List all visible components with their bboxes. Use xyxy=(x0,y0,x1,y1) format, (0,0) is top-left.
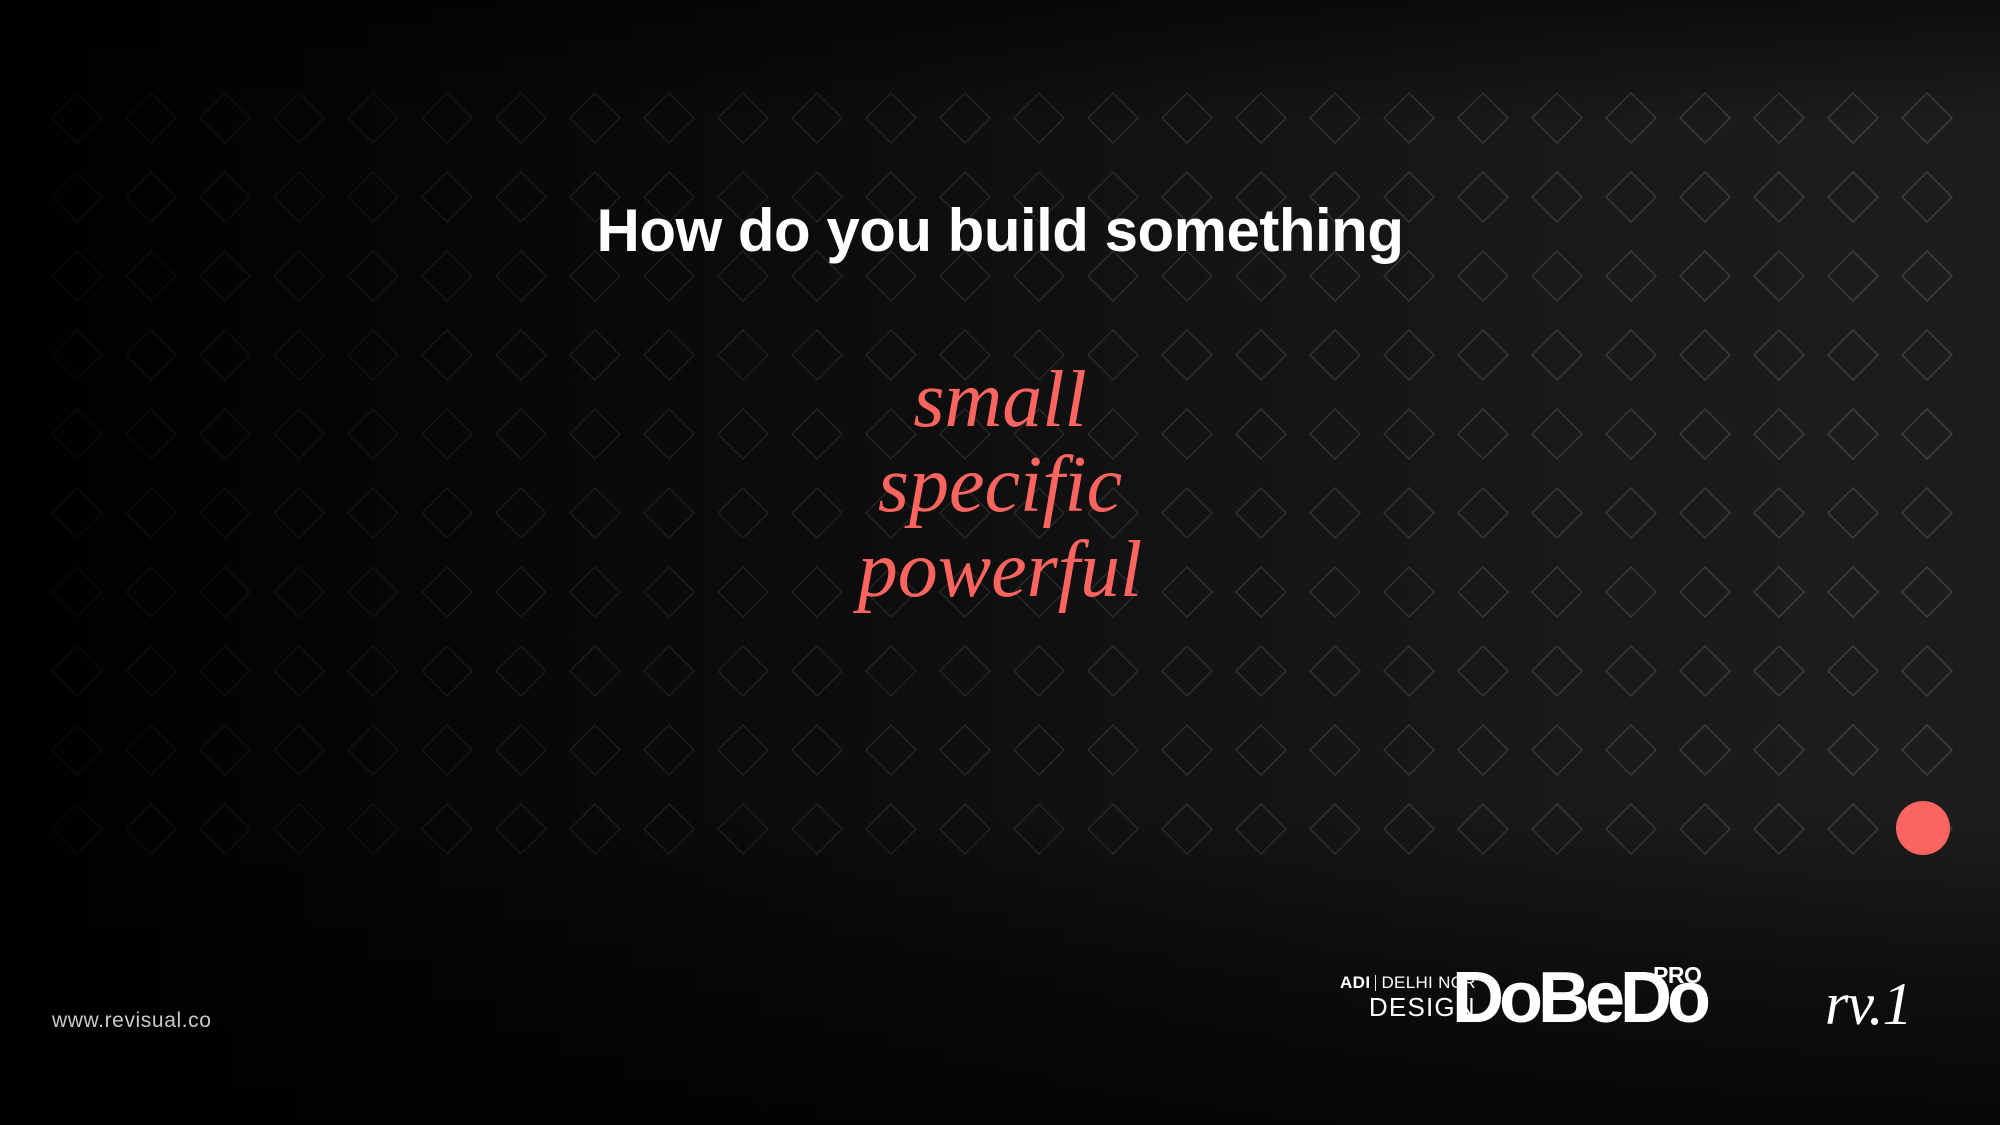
page-title: How do you build something xyxy=(0,199,2000,262)
dobedo-pro-superscript: PRO xyxy=(1653,964,1701,987)
footer-logo-cluster: ADI DELHI NCR DESIGN DoBeDo PRO rv.1 xyxy=(1340,962,1980,1052)
coral-dot-accent xyxy=(1896,801,1950,855)
adi-divider-icon xyxy=(1375,975,1376,991)
adi-brand-label: ADI xyxy=(1340,974,1370,991)
dobedo-pro-logo: DoBeDo PRO xyxy=(1452,962,1706,1034)
emphasis-word-stack: small specific powerful xyxy=(0,358,2000,613)
emphasis-line-powerful: powerful xyxy=(0,528,2000,613)
slide-canvas: How do you build something small specifi… xyxy=(0,0,2000,1125)
revision-mark: rv.1 xyxy=(1825,974,1912,1034)
emphasis-line-small: small xyxy=(0,358,2000,443)
emphasis-line-specific: specific xyxy=(0,443,2000,528)
site-url-label[interactable]: www.revisual.co xyxy=(52,1009,212,1033)
